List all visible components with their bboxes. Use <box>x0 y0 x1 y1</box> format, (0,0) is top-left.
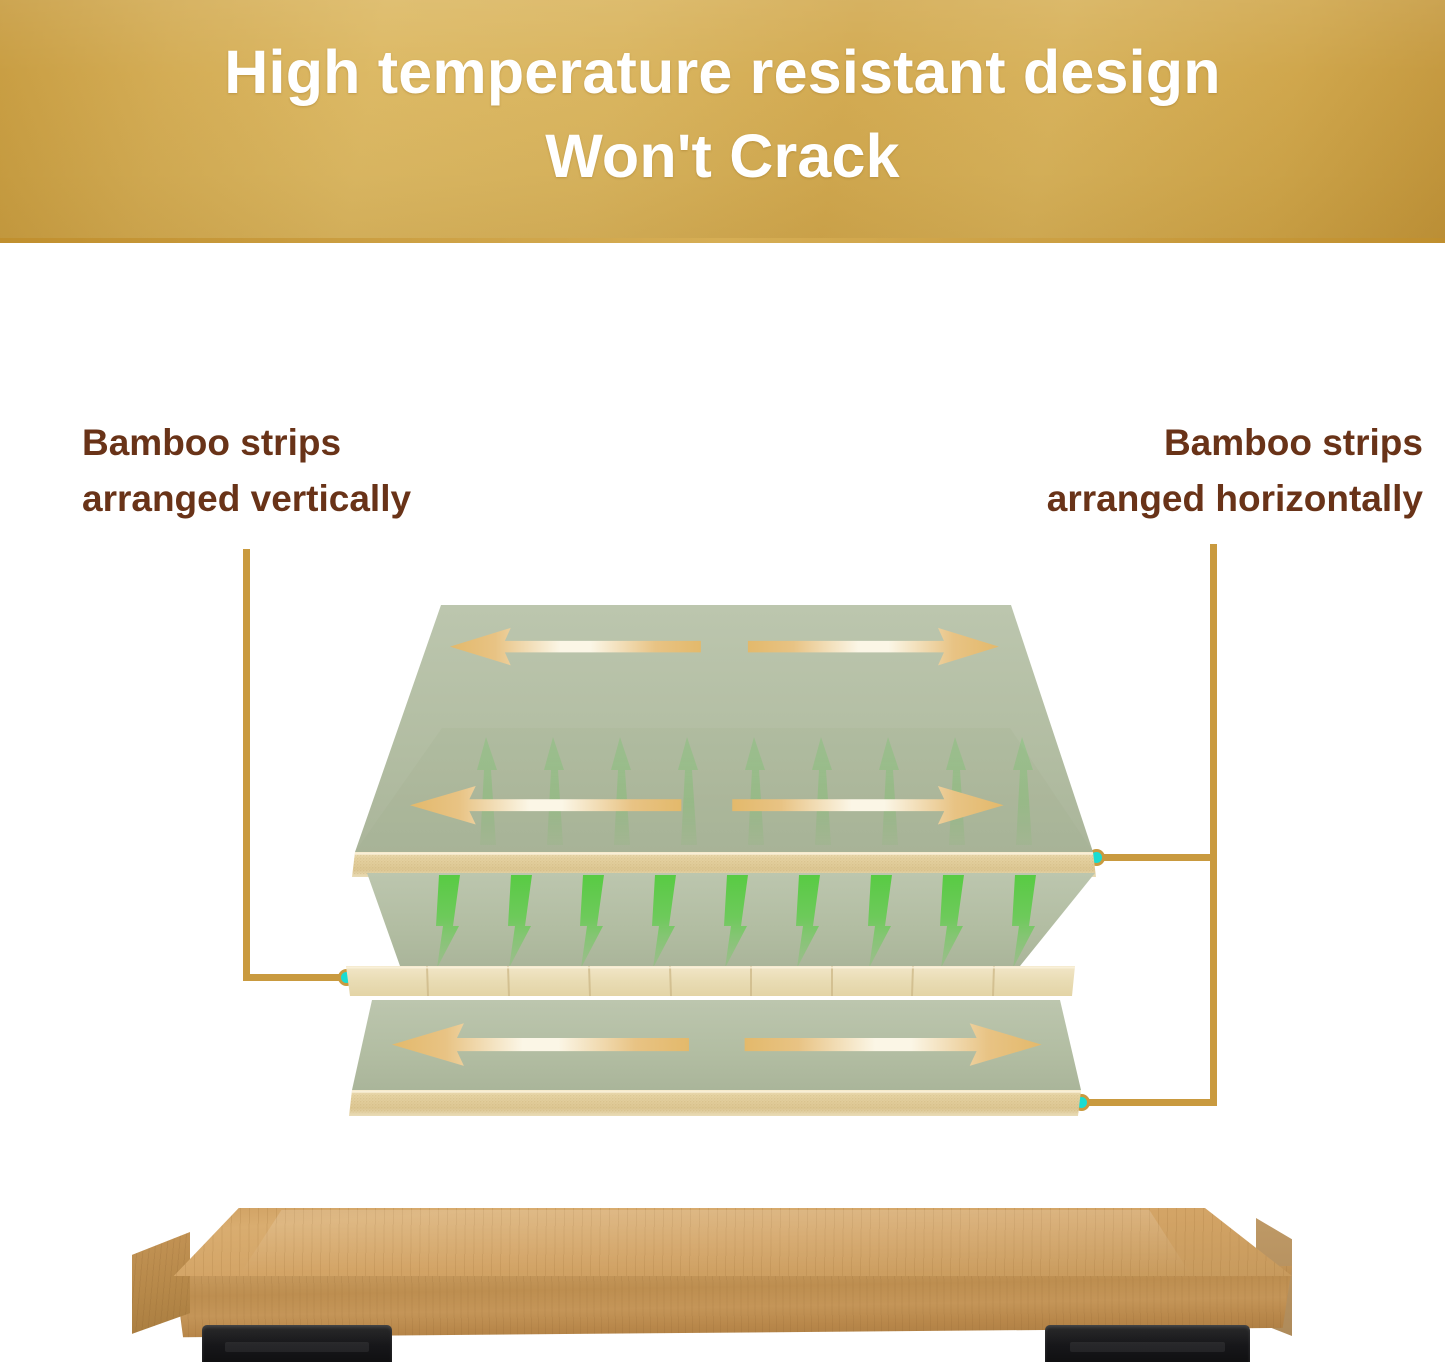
middle-layer-down-arrows <box>436 875 1036 968</box>
top-layer-shadow-overlay <box>355 728 1093 852</box>
leader-endpoint-dot-right-lower <box>1073 1094 1090 1111</box>
middle-layer-edge-seams <box>427 966 994 996</box>
diagram-layer-top <box>352 605 1096 877</box>
top-layer-horizontal-arrow <box>450 628 999 665</box>
top-layer-edge-texture <box>353 855 1095 874</box>
banner-headline-line-1: High temperature resistant design <box>0 30 1445 114</box>
diagram-layer-middle <box>346 873 1095 996</box>
callout-left-line-1: Bamboo strips <box>82 415 411 471</box>
banner-text-block: High temperature resistant design Won't … <box>0 30 1445 198</box>
leader-endpoint-dot-left <box>338 969 355 986</box>
header-banner: High temperature resistant design Won't … <box>0 0 1445 243</box>
leader-endpoint-dot-right-upper <box>1088 849 1105 866</box>
bottom-layer-horizontal-arrow <box>392 1023 1042 1066</box>
infographic-page: High temperature resistant design Won't … <box>0 0 1445 1362</box>
top-layer-horizontal-arrow-secondary <box>410 786 1004 824</box>
bamboo-board-product <box>132 1208 1292 1338</box>
board-foot-left <box>202 1325 392 1362</box>
bottom-layer-edge-texture <box>350 1093 1081 1113</box>
callout-left-line-2: arranged vertically <box>82 471 411 527</box>
board-grain-sheen <box>202 1210 1200 1272</box>
callout-right-line-2: arranged horizontally <box>1047 471 1423 527</box>
bottom-layer-edge-strip <box>349 1090 1081 1116</box>
callout-label-horizontal-strips: Bamboo strips arranged horizontally <box>1047 415 1423 527</box>
leader-line-right-vertical <box>1210 544 1217 1106</box>
middle-layer-surface <box>367 873 1095 966</box>
callout-label-vertical-strips: Bamboo strips arranged vertically <box>82 415 411 527</box>
top-layer-edge-strip <box>352 852 1096 877</box>
leader-line-right-branch-lower <box>1086 1099 1213 1106</box>
bottom-layer-surface <box>352 1000 1081 1090</box>
leader-line-right-branch-upper <box>1100 854 1213 861</box>
middle-layer-edge-strip <box>346 966 1075 996</box>
top-layer-surface <box>355 605 1093 852</box>
diagram-layer-bottom <box>349 1000 1081 1116</box>
top-layer-up-arrows <box>477 737 1033 845</box>
leader-line-left-vertical <box>243 549 250 981</box>
board-foot-right <box>1045 1325 1250 1362</box>
banner-headline-line-2: Won't Crack <box>0 114 1445 198</box>
leader-line-left-horizontal <box>243 974 351 981</box>
callout-right-line-1: Bamboo strips <box>1047 415 1423 471</box>
